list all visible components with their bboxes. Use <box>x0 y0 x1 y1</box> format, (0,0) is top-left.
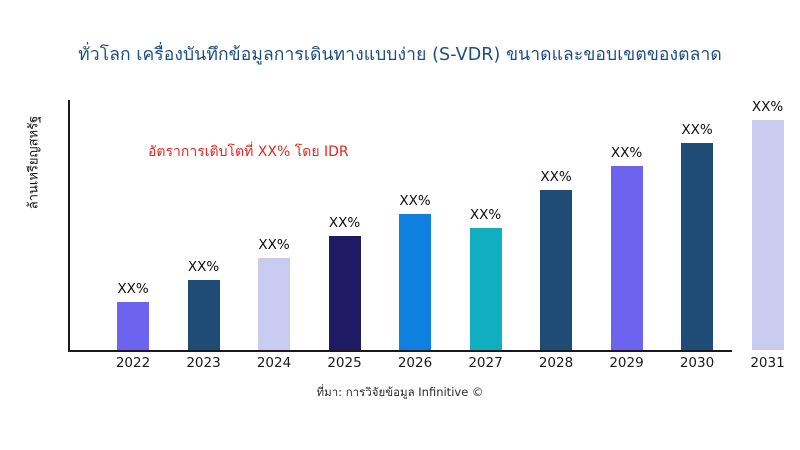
x-axis-tick-label: 2027 <box>453 355 519 371</box>
x-axis-tick-label: 2030 <box>664 355 730 371</box>
bar[interactable] <box>611 166 643 350</box>
bar-value-label: XX% <box>735 99 800 115</box>
bar[interactable] <box>258 258 290 350</box>
bar-slot: XX% <box>735 100 800 350</box>
bar-slot: XX% <box>312 100 378 350</box>
plot-area: XX%XX%XX%XX%XX%XX%XX%XX%XX%XX% <box>68 100 800 352</box>
bar-value-label: XX% <box>594 145 660 161</box>
bar-slot: XX% <box>171 100 237 350</box>
bar-slot: XX% <box>382 100 448 350</box>
x-axis-line <box>68 350 732 352</box>
x-axis-tick-label: 2026 <box>382 355 448 371</box>
x-axis-tick-label: 2029 <box>594 355 660 371</box>
bar-value-label: XX% <box>523 169 589 185</box>
bar[interactable] <box>399 214 431 350</box>
bar[interactable] <box>188 280 220 350</box>
bar-value-label: XX% <box>382 193 448 209</box>
bar[interactable] <box>470 228 502 350</box>
bar-value-label: XX% <box>312 215 378 231</box>
bar-slot: XX% <box>664 100 730 350</box>
x-axis-tick-labels: 2022202320242025202620272028202920302031 <box>68 355 800 379</box>
x-axis-tick-label: 2031 <box>735 355 800 371</box>
bar[interactable] <box>117 302 149 350</box>
x-axis-tick-label: 2022 <box>100 355 166 371</box>
y-axis-label: ล้านเหรียญสหรัฐ <box>23 68 44 258</box>
x-axis-tick-label: 2024 <box>241 355 307 371</box>
source-note: ที่มา: การวิจัยข้อมูล Infinitive © <box>0 384 800 402</box>
chart-container: ทั่วโลก เครื่องบันทึกข้อมูลการเดินทางแบบ… <box>0 0 800 450</box>
bar-value-label: XX% <box>100 281 166 297</box>
bar-slot: XX% <box>453 100 519 350</box>
bar[interactable] <box>540 190 572 350</box>
bar-series: XX%XX%XX%XX%XX%XX%XX%XX%XX%XX% <box>68 100 800 350</box>
x-axis-tick-label: 2028 <box>523 355 589 371</box>
bar-value-label: XX% <box>241 237 307 253</box>
x-axis-tick-label: 2025 <box>312 355 378 371</box>
bar-slot: XX% <box>241 100 307 350</box>
growth-rate-annotation: อัตราการเติบโตที่ XX% โดย IDR <box>148 141 349 163</box>
bar-slot: XX% <box>594 100 660 350</box>
bar[interactable] <box>752 120 784 350</box>
bar[interactable] <box>681 143 713 350</box>
bar-value-label: XX% <box>171 259 237 275</box>
x-axis-tick-label: 2023 <box>171 355 237 371</box>
bar-slot: XX% <box>100 100 166 350</box>
bar[interactable] <box>329 236 361 350</box>
bar-value-label: XX% <box>664 122 730 138</box>
bar-slot: XX% <box>523 100 589 350</box>
chart-title: ทั่วโลก เครื่องบันทึกข้อมูลการเดินทางแบบ… <box>0 40 800 68</box>
bar-value-label: XX% <box>453 207 519 223</box>
